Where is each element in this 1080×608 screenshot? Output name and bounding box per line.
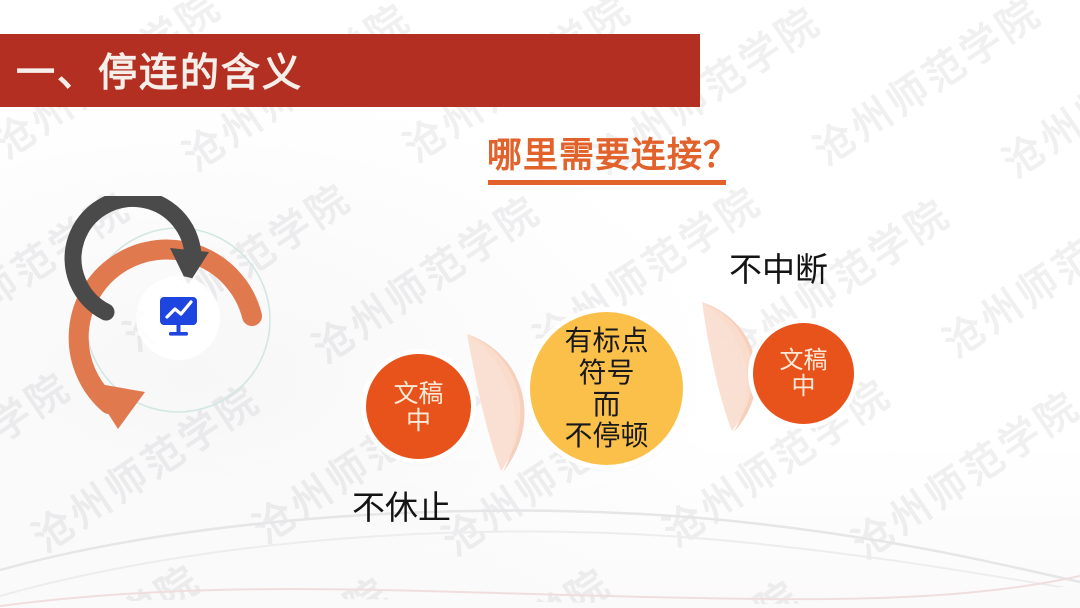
watermark-row: 沧州师范学院 沧州师范学院 沧州师范学院 沧州师范学院 沧州师范学院	[538, 586, 1080, 608]
watermark-text: 沧州师范学院	[800, 0, 1051, 176]
flow-circle-left-line-1: 文稿	[393, 380, 443, 407]
flow-circle-middle-line-1: 有标点	[564, 325, 648, 357]
caption-right: 不中断	[729, 243, 828, 291]
watermark-text: 沧州师范学院	[780, 554, 1031, 608]
cycle-arrows-graphic	[62, 196, 310, 444]
presentation-slide: 沧州师范学院 沧州师范学院 沧州师范学院 沧州师范学院 沧州师范学院 沧州师范学…	[0, 0, 1080, 608]
flow-circle-left: 文稿 中	[366, 354, 471, 459]
watermark-text: 沧州师范学院	[930, 173, 1080, 369]
watermark-row: 沧州师范学院 沧州师范学院 沧州师范学院 沧州师范学院 沧州师范学院	[349, 490, 1080, 608]
section-heading: 哪里需要连接？	[487, 127, 739, 178]
watermark-text: 沧州师范学院	[839, 374, 1080, 570]
flow-circle-middle: 有标点 符号 而 不停顿	[530, 312, 683, 465]
page-title: 一、停连的含义	[16, 42, 303, 98]
watermark-text: 沧州师范学院	[990, 0, 1080, 189]
flow-circle-middle-line-3: 而	[592, 389, 620, 421]
watermark-text: 沧州师范学院	[1060, 365, 1080, 561]
watermark-text: 沧州师范学院	[969, 567, 1080, 608]
watermark-text: 沧州师范学院	[370, 551, 621, 608]
flow-circle-right-line-2: 中	[792, 374, 816, 400]
watermark-text: 沧州师范学院	[0, 548, 211, 608]
watermark-text: 沧州师范学院	[559, 563, 810, 608]
flow-circle-left-line-2: 中	[406, 407, 431, 434]
caption-left: 不休止	[352, 481, 451, 529]
watermark-text: 沧州师范学院	[149, 560, 400, 608]
watermark-row: 沧州师范学院 沧州师范学院 沧州师范学院 沧州师范学院 沧州师范学院	[408, 393, 1080, 608]
watermark-text: 沧州师范学院	[299, 179, 550, 375]
flow-circle-middle-line-4: 不停顿	[564, 420, 648, 452]
flow-circle-middle-line-2: 符号	[578, 357, 634, 389]
section-heading-underline	[488, 180, 726, 185]
flow-circle-right-line-1: 文稿	[780, 348, 828, 374]
bottom-wave-decoration	[0, 478, 1080, 608]
flow-circle-right: 文稿 中	[753, 323, 854, 424]
